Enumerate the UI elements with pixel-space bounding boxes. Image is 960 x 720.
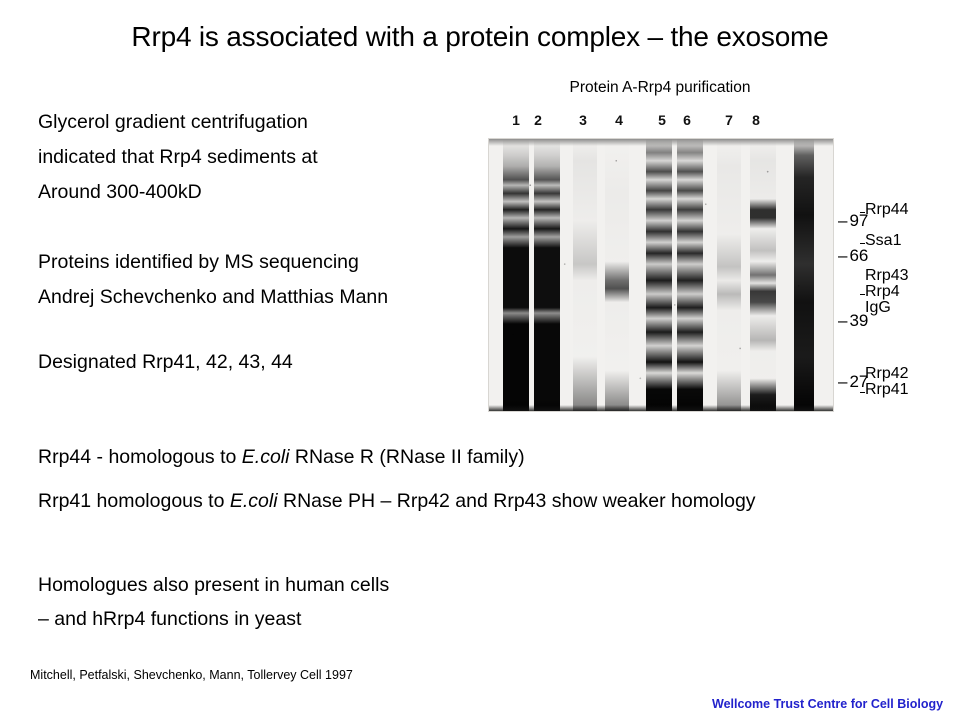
slide-canvas: Rrp4 is associated with a protein comple… xyxy=(0,0,960,720)
gel-lane-5 xyxy=(646,139,672,411)
homology-line-2-species: E.coli xyxy=(230,490,278,512)
mw-dash-39: – xyxy=(838,311,847,330)
mw-marker-66: –66 xyxy=(838,246,868,266)
body-line-1: Glycerol gradient centrifugation xyxy=(38,110,308,134)
gel-lane-7 xyxy=(717,139,741,411)
lane-number-2: 2 xyxy=(534,112,542,128)
gel-lane-8 xyxy=(750,139,776,411)
gel-dye-front xyxy=(489,405,833,411)
lane-number-7: 7 xyxy=(725,112,733,128)
lane-number-5: 5 xyxy=(658,112,666,128)
protein-label-ssa1: Ssa1 xyxy=(865,232,901,250)
gel-lane-6 xyxy=(677,139,703,411)
homology-line-1-part-a: Rrp44 - homologous to xyxy=(38,446,242,468)
lane-number-8: 8 xyxy=(752,112,760,128)
sds-page-gel-image xyxy=(488,138,834,412)
body-line-4: Proteins identified by MS sequencing xyxy=(38,250,359,274)
mw-marker-27: –27 xyxy=(838,372,868,392)
mw-dash-27: – xyxy=(838,372,847,391)
body-line-5: Andrej Schevchenko and Matthias Mann xyxy=(38,285,388,309)
protein-label-rrp41: Rrp41 xyxy=(865,381,909,399)
gel-marker-lane xyxy=(794,139,814,411)
closing-line-1: Homologues also present in human cells xyxy=(38,573,389,597)
mw-marker-39: –39 xyxy=(838,311,868,331)
mw-dash-66: – xyxy=(838,246,847,265)
homology-line-2: Rrp41 homologous to E.coli RNase PH – Rr… xyxy=(38,489,756,513)
gel-lane-1 xyxy=(503,139,529,411)
gel-lane-3 xyxy=(573,139,597,411)
closing-line-2: – and hRrp4 functions in yeast xyxy=(38,607,301,631)
gel-lane-2 xyxy=(534,139,560,411)
body-line-3: Around 300-400kD xyxy=(38,180,202,204)
figure-caption: Protein A-Rrp4 purification xyxy=(488,79,832,97)
lane-number-6: 6 xyxy=(683,112,691,128)
mw-dash-97: – xyxy=(838,211,847,230)
body-line-6: Designated Rrp41, 42, 43, 44 xyxy=(38,350,293,374)
citation-text: Mitchell, Petfalski, Shevchenko, Mann, T… xyxy=(30,668,353,682)
homology-line-1-species: E.coli xyxy=(242,446,290,468)
institution-footer: Wellcome Trust Centre for Cell Biology xyxy=(712,697,943,711)
gel-lane-numbers: 1 2 3 4 5 6 7 8 xyxy=(488,112,832,130)
lane-number-4: 4 xyxy=(615,112,623,128)
lane-number-1: 1 xyxy=(512,112,520,128)
body-line-2: indicated that Rrp4 sediments at xyxy=(38,145,318,169)
mw-marker-97: –97 xyxy=(838,211,868,231)
gel-well-line xyxy=(489,139,833,146)
homology-line-1: Rrp44 - homologous to E.coli RNase R (RN… xyxy=(38,445,525,469)
protein-label-rrp44: Rrp44 xyxy=(865,201,909,219)
gel-lane-4 xyxy=(605,139,629,411)
protein-label-igg: IgG xyxy=(865,299,891,317)
lane-number-3: 3 xyxy=(579,112,587,128)
homology-line-1-part-b: RNase R (RNase II family) xyxy=(289,446,524,468)
page-title: Rrp4 is associated with a protein comple… xyxy=(0,20,960,54)
homology-line-2-part-b: RNase PH – Rrp42 and Rrp43 show weaker h… xyxy=(278,490,756,512)
homology-line-2-part-a: Rrp41 homologous to xyxy=(38,490,230,512)
